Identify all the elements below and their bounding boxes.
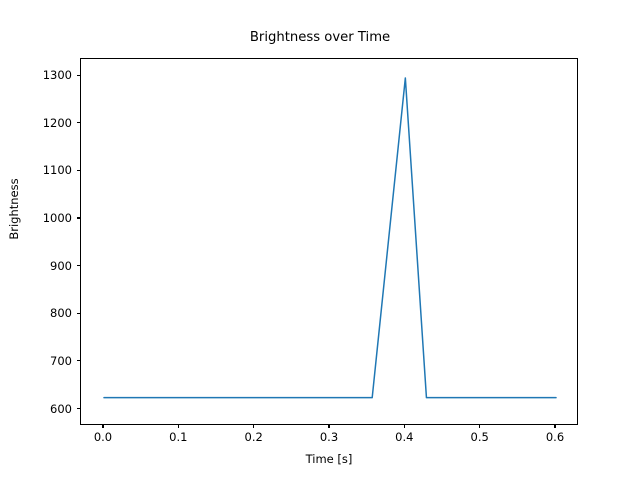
x-axis-label: Time [s] xyxy=(80,452,578,466)
y-tick-label: 700 xyxy=(50,354,72,368)
x-tick-label: 0.1 xyxy=(169,430,187,444)
x-tick-label: 0.2 xyxy=(245,430,263,444)
plot-area xyxy=(80,58,578,425)
x-tick-label: 0.3 xyxy=(320,430,338,444)
data-series-group xyxy=(104,78,556,398)
x-tick-label: 0.5 xyxy=(471,430,489,444)
y-tick-label: 600 xyxy=(50,402,72,416)
y-tick-label: 900 xyxy=(50,259,72,273)
plot-svg xyxy=(81,59,579,426)
x-tick-label: 0.6 xyxy=(546,430,564,444)
y-tick-label: 800 xyxy=(50,306,72,320)
y-axis-tick-labels: 6007008009001000110012001300 xyxy=(0,0,72,480)
chart-title: Brightness over Time xyxy=(0,30,640,45)
x-tick-label: 0.0 xyxy=(94,430,112,444)
y-tick-label: 1200 xyxy=(43,116,72,130)
y-tick-label: 1300 xyxy=(43,68,72,82)
y-tick-label: 1000 xyxy=(43,211,72,225)
data-line-brightness xyxy=(104,78,556,398)
matplotlib-figure: Brightness over Time Brightness 60070080… xyxy=(0,0,640,480)
y-tick-label: 1100 xyxy=(43,163,72,177)
x-tick-label: 0.4 xyxy=(395,430,413,444)
